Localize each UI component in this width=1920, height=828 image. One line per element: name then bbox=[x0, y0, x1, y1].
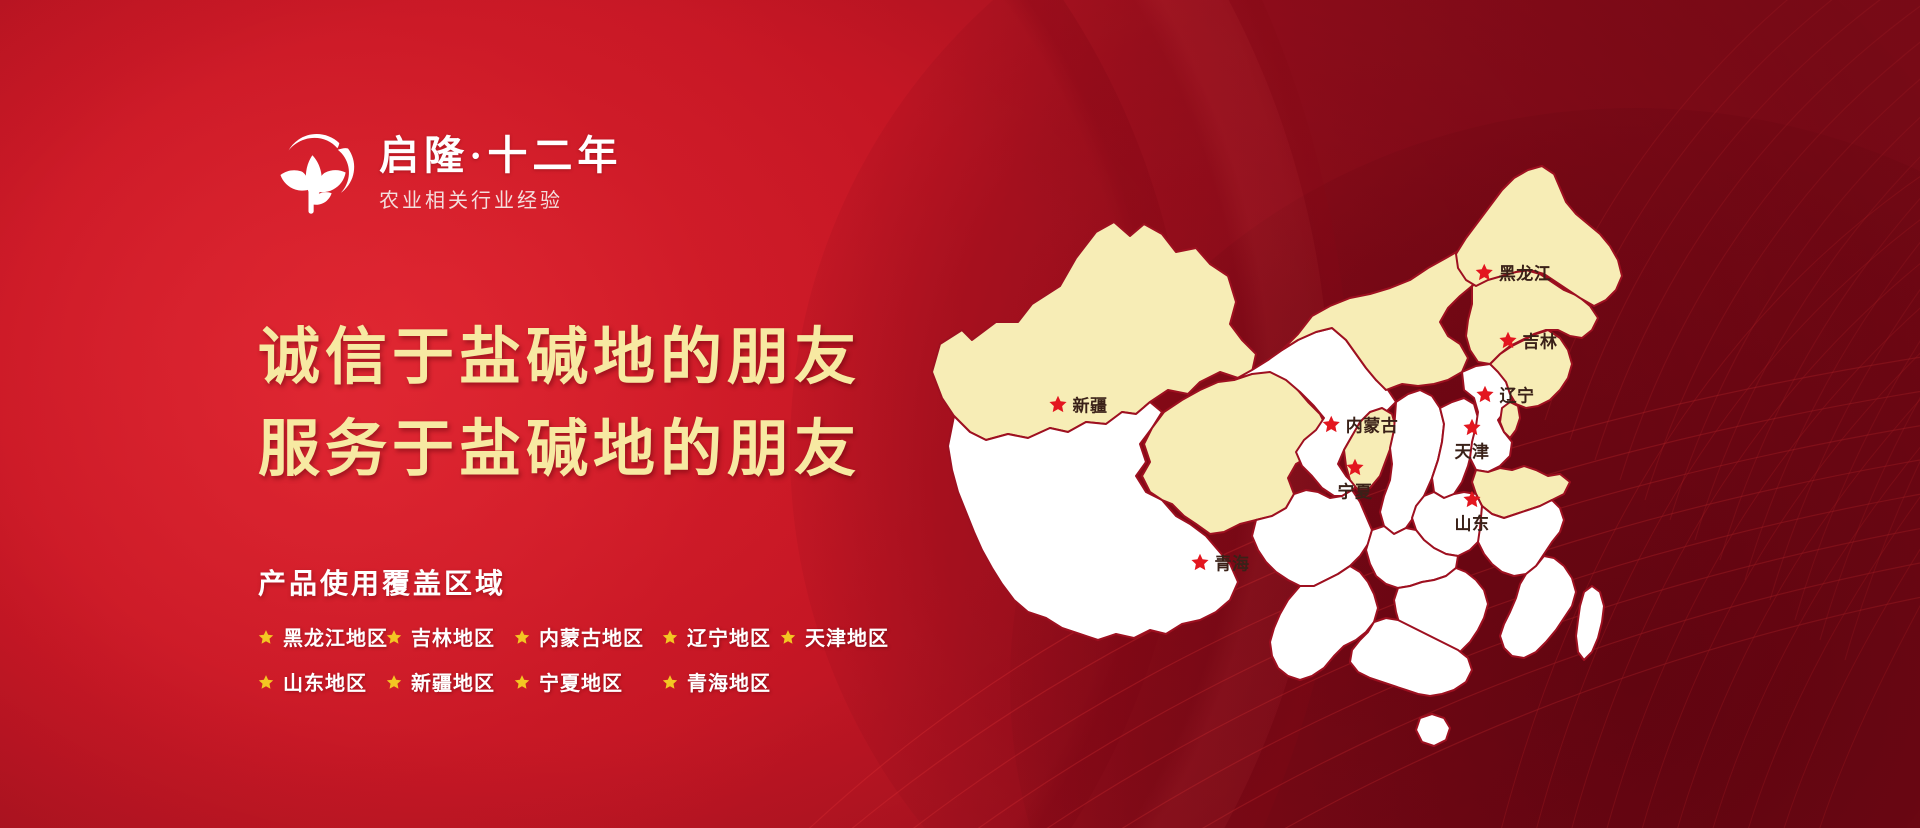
coverage-region-label: 新疆地区 bbox=[411, 667, 495, 696]
map-marker-label: 吉林 bbox=[1523, 328, 1558, 353]
coverage-region-tag[interactable]: 山东地区 bbox=[258, 667, 386, 696]
star-marker-icon bbox=[1322, 415, 1341, 434]
map-marker-label: 青海 bbox=[1215, 550, 1250, 575]
coverage-region-label: 天津地区 bbox=[805, 622, 889, 651]
china-map: 黑龙江吉林辽宁内蒙古新疆青海宁夏天津山东 bbox=[900, 72, 1660, 772]
island-taiwan bbox=[1576, 586, 1604, 660]
coverage-region-label: 辽宁地区 bbox=[687, 622, 771, 651]
map-marker-label: 宁夏 bbox=[1338, 478, 1373, 503]
coverage-title: 产品使用覆盖区域 bbox=[258, 562, 898, 602]
star-marker-icon bbox=[1475, 263, 1494, 282]
map-marker-山东[interactable]: 山东 bbox=[1455, 490, 1490, 535]
coverage-region-label: 吉林地区 bbox=[411, 622, 495, 651]
coverage-region-tag[interactable]: 宁夏地区 bbox=[514, 667, 662, 696]
map-marker-天津[interactable]: 天津 bbox=[1455, 418, 1490, 463]
star-marker-icon bbox=[1463, 490, 1482, 509]
lotus-leaf-icon bbox=[265, 126, 361, 222]
coverage-region-tag[interactable]: 黑龙江地区 bbox=[258, 622, 386, 651]
headline: 诚信于盐碱地的朋友 服务于盐碱地的朋友 bbox=[258, 312, 861, 496]
star-icon bbox=[258, 674, 274, 690]
star-icon bbox=[386, 629, 402, 645]
coverage-region-label: 青海地区 bbox=[687, 667, 771, 696]
coverage-region-label: 山东地区 bbox=[283, 667, 367, 696]
map-marker-新疆[interactable]: 新疆 bbox=[1049, 392, 1108, 417]
coverage-region-label: 宁夏地区 bbox=[539, 667, 623, 696]
brand-logo: 启隆·十二年 农业相关行业经验 bbox=[265, 126, 622, 222]
coverage-region-row: 黑龙江地区吉林地区内蒙古地区辽宁地区天津地区 bbox=[258, 622, 898, 651]
coverage-region-label: 黑龙江地区 bbox=[283, 622, 388, 651]
brand-subtitle: 农业相关行业经验 bbox=[379, 186, 622, 216]
island-hainan bbox=[1416, 714, 1450, 746]
coverage-region-list: 黑龙江地区吉林地区内蒙古地区辽宁地区天津地区山东地区新疆地区宁夏地区青海地区 bbox=[258, 622, 898, 696]
coverage-region-label: 内蒙古地区 bbox=[539, 622, 644, 651]
coverage-region-tag[interactable]: 天津地区 bbox=[780, 622, 898, 651]
map-marker-内蒙古[interactable]: 内蒙古 bbox=[1322, 412, 1399, 437]
map-marker-label: 黑龙江 bbox=[1499, 260, 1552, 285]
map-marker-黑龙江[interactable]: 黑龙江 bbox=[1475, 260, 1552, 285]
coverage-region-row: 山东地区新疆地区宁夏地区青海地区 bbox=[258, 667, 898, 696]
map-marker-宁夏[interactable]: 宁夏 bbox=[1338, 458, 1373, 503]
coverage-region-tag[interactable]: 吉林地区 bbox=[386, 622, 514, 651]
star-icon bbox=[662, 629, 678, 645]
coverage-region-tag[interactable]: 内蒙古地区 bbox=[514, 622, 662, 651]
map-marker-辽宁[interactable]: 辽宁 bbox=[1476, 382, 1535, 407]
map-marker-label: 新疆 bbox=[1073, 392, 1108, 417]
headline-line-1: 诚信于盐碱地的朋友 bbox=[258, 312, 861, 404]
coverage-section: 产品使用覆盖区域 黑龙江地区吉林地区内蒙古地区辽宁地区天津地区山东地区新疆地区宁… bbox=[258, 562, 898, 712]
map-marker-label: 辽宁 bbox=[1500, 382, 1535, 407]
star-marker-icon bbox=[1049, 395, 1068, 414]
star-icon bbox=[514, 674, 530, 690]
coverage-region-tag[interactable]: 青海地区 bbox=[662, 667, 780, 696]
star-icon bbox=[780, 629, 796, 645]
star-icon bbox=[258, 629, 274, 645]
promo-banner: 启隆·十二年 农业相关行业经验 诚信于盐碱地的朋友 服务于盐碱地的朋友 产品使用… bbox=[0, 0, 1920, 828]
star-marker-icon bbox=[1463, 418, 1482, 437]
map-marker-label: 天津 bbox=[1455, 438, 1490, 463]
star-marker-icon bbox=[1476, 385, 1495, 404]
star-icon bbox=[386, 674, 402, 690]
star-marker-icon bbox=[1499, 331, 1518, 350]
star-icon bbox=[662, 674, 678, 690]
star-icon bbox=[514, 629, 530, 645]
china-map-svg bbox=[900, 72, 1660, 772]
coverage-region-tag[interactable]: 新疆地区 bbox=[386, 667, 514, 696]
coverage-region-tag[interactable]: 辽宁地区 bbox=[662, 622, 780, 651]
brand-title: 启隆·十二年 bbox=[379, 132, 622, 179]
map-marker-label: 内蒙古 bbox=[1346, 412, 1399, 437]
map-marker-吉林[interactable]: 吉林 bbox=[1499, 328, 1558, 353]
map-marker-label: 山东 bbox=[1455, 510, 1490, 535]
headline-line-2: 服务于盐碱地的朋友 bbox=[258, 404, 861, 496]
star-marker-icon bbox=[1191, 553, 1210, 572]
star-marker-icon bbox=[1346, 458, 1365, 477]
map-marker-青海[interactable]: 青海 bbox=[1191, 550, 1250, 575]
